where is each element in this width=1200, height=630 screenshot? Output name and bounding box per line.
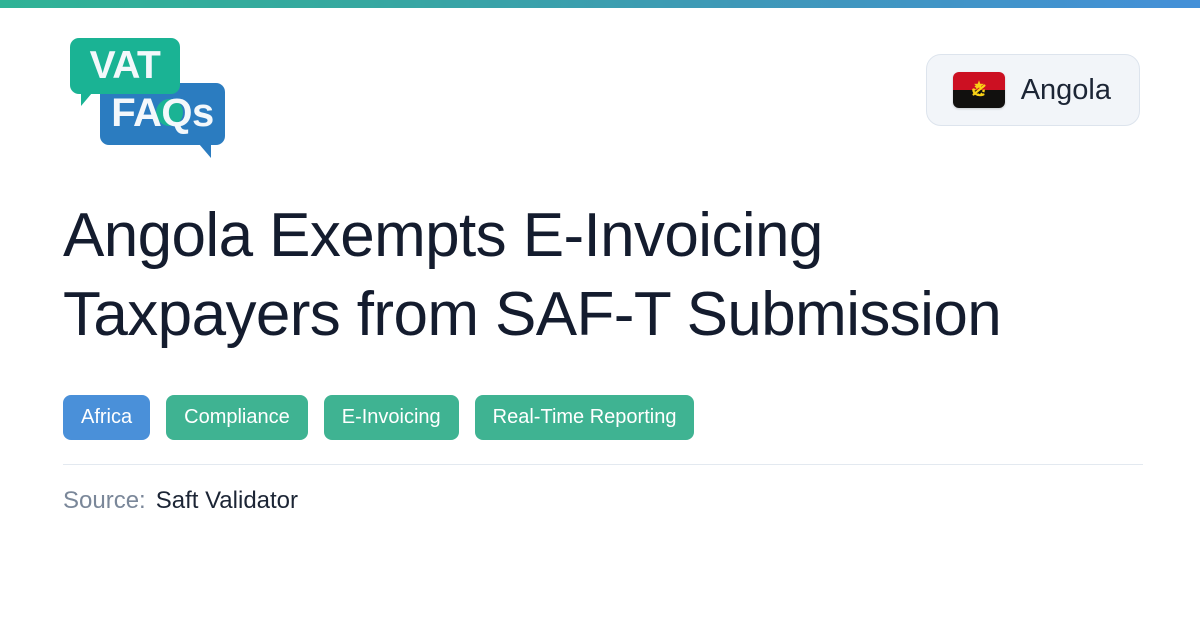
source-row: Source: Saft Validator [63, 487, 1140, 515]
tag-list: Africa Compliance E-Invoicing Real-Time … [63, 395, 1140, 440]
tag-real-time-reporting[interactable]: Real-Time Reporting [475, 395, 695, 440]
logo-bubble-tail-vat [81, 93, 101, 106]
logo-text-vat: VAT [90, 46, 161, 85]
flag-emblem-icon [953, 72, 1005, 108]
page-content: VAT FAQs [0, 8, 1200, 630]
top-accent-bar [0, 0, 1200, 8]
logo-speech-bubble-vat: VAT [70, 38, 180, 94]
page-title: Angola Exempts E-Invoicing Taxpayers fro… [63, 196, 1063, 355]
source-value[interactable]: Saft Validator [156, 487, 298, 515]
header-row: VAT FAQs [60, 8, 1140, 144]
logo-bubble-tail-faqs [190, 144, 211, 158]
country-name-label: Angola [1021, 74, 1111, 107]
tag-e-invoicing[interactable]: E-Invoicing [324, 395, 459, 440]
angola-flag-icon [953, 72, 1005, 108]
tag-africa[interactable]: Africa [63, 395, 150, 440]
logo-text-faqs: FAQs [111, 93, 213, 133]
source-label: Source: [63, 487, 146, 515]
tag-compliance[interactable]: Compliance [166, 395, 308, 440]
country-badge[interactable]: Angola [926, 54, 1140, 126]
vatfaqs-logo[interactable]: VAT FAQs [70, 38, 240, 150]
content-divider [63, 464, 1143, 465]
